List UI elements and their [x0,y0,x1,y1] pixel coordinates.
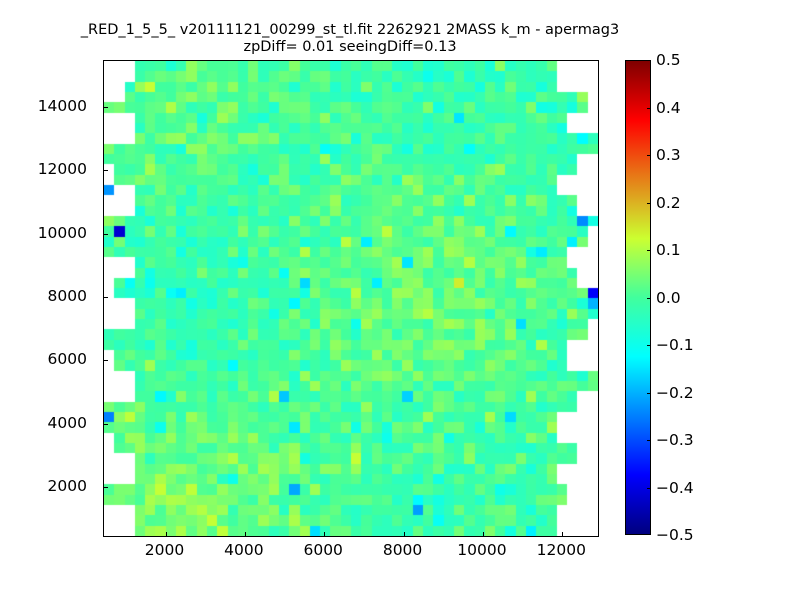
colorbar-tick-label: −0.1 [656,336,694,354]
colorbar-tick [647,108,651,109]
y-axis-tick-label: 2000 [48,477,87,495]
colorbar-tick-label: 0.4 [656,99,681,117]
colorbar-tick [647,250,651,251]
chart-title: _RED_1_5_5_ v20111121_00299_st_tl.fit 22… [0,22,700,56]
colorbar-tick-label: 0.2 [656,194,681,212]
x-axis-tick-label: 8000 [383,541,422,559]
x-axis-tick-label: 12000 [537,541,586,559]
x-axis-tick-label: 4000 [224,541,263,559]
x-axis-tick-label: 2000 [145,541,184,559]
y-axis-tick-label: 4000 [48,414,87,432]
colorbar-tick [647,203,651,204]
colorbar-tick-label: 0.5 [656,51,681,69]
x-axis-tick [404,532,405,536]
y-axis-tick [104,234,108,235]
colorbar-tick-label: −0.2 [656,384,694,402]
title-line-1: _RED_1_5_5_ v20111121_00299_st_tl.fit 22… [0,22,700,39]
x-axis-tick [166,532,167,536]
colorbar-tick [647,345,651,346]
x-axis-tick [245,532,246,536]
colorbar-tick-label: −0.5 [656,526,694,544]
x-axis-tick [483,532,484,536]
colorbar-tick [647,393,651,394]
title-line-2: zpDiff= 0.01 seeingDiff=0.13 [0,39,700,56]
colorbar-tick-label: 0.0 [656,289,681,307]
colorbar [625,60,651,535]
y-axis-tick [104,487,108,488]
x-axis-tick-labels: 20004000600080001000012000 [103,541,597,565]
colorbar-tick [647,488,651,489]
y-axis-tick-label: 6000 [48,350,87,368]
colorbar-tick-label: −0.3 [656,431,694,449]
x-axis-tick [562,532,563,536]
y-axis-tick [104,360,108,361]
y-axis-tick [104,107,108,108]
y-axis-tick-label: 10000 [38,224,87,242]
x-axis-tick [324,532,325,536]
y-axis-tick-label: 8000 [48,287,87,305]
x-axis-tick-label: 6000 [303,541,342,559]
heatmap-image [104,61,598,536]
y-axis-tick-label: 14000 [38,97,87,115]
matplotlib-figure: _RED_1_5_5_ v20111121_00299_st_tl.fit 22… [0,0,800,600]
colorbar-tick-label: −0.4 [656,479,694,497]
x-axis-tick-label: 10000 [457,541,506,559]
y-axis-tick [104,424,108,425]
y-axis-tick-labels: 2000400060008000100001200014000 [0,60,95,535]
colorbar-tick-label: 0.3 [656,146,681,164]
colorbar-tick-labels: 0.50.40.30.20.10.0−0.1−0.2−0.3−0.4−0.5 [656,60,726,535]
plot-axes [103,60,599,537]
colorbar-tick [647,298,651,299]
y-axis-tick-label: 12000 [38,160,87,178]
y-axis-tick [104,297,108,298]
colorbar-tick-label: 0.1 [656,241,681,259]
y-axis-tick [104,170,108,171]
colorbar-tick [647,440,651,441]
colorbar-tick [647,155,651,156]
